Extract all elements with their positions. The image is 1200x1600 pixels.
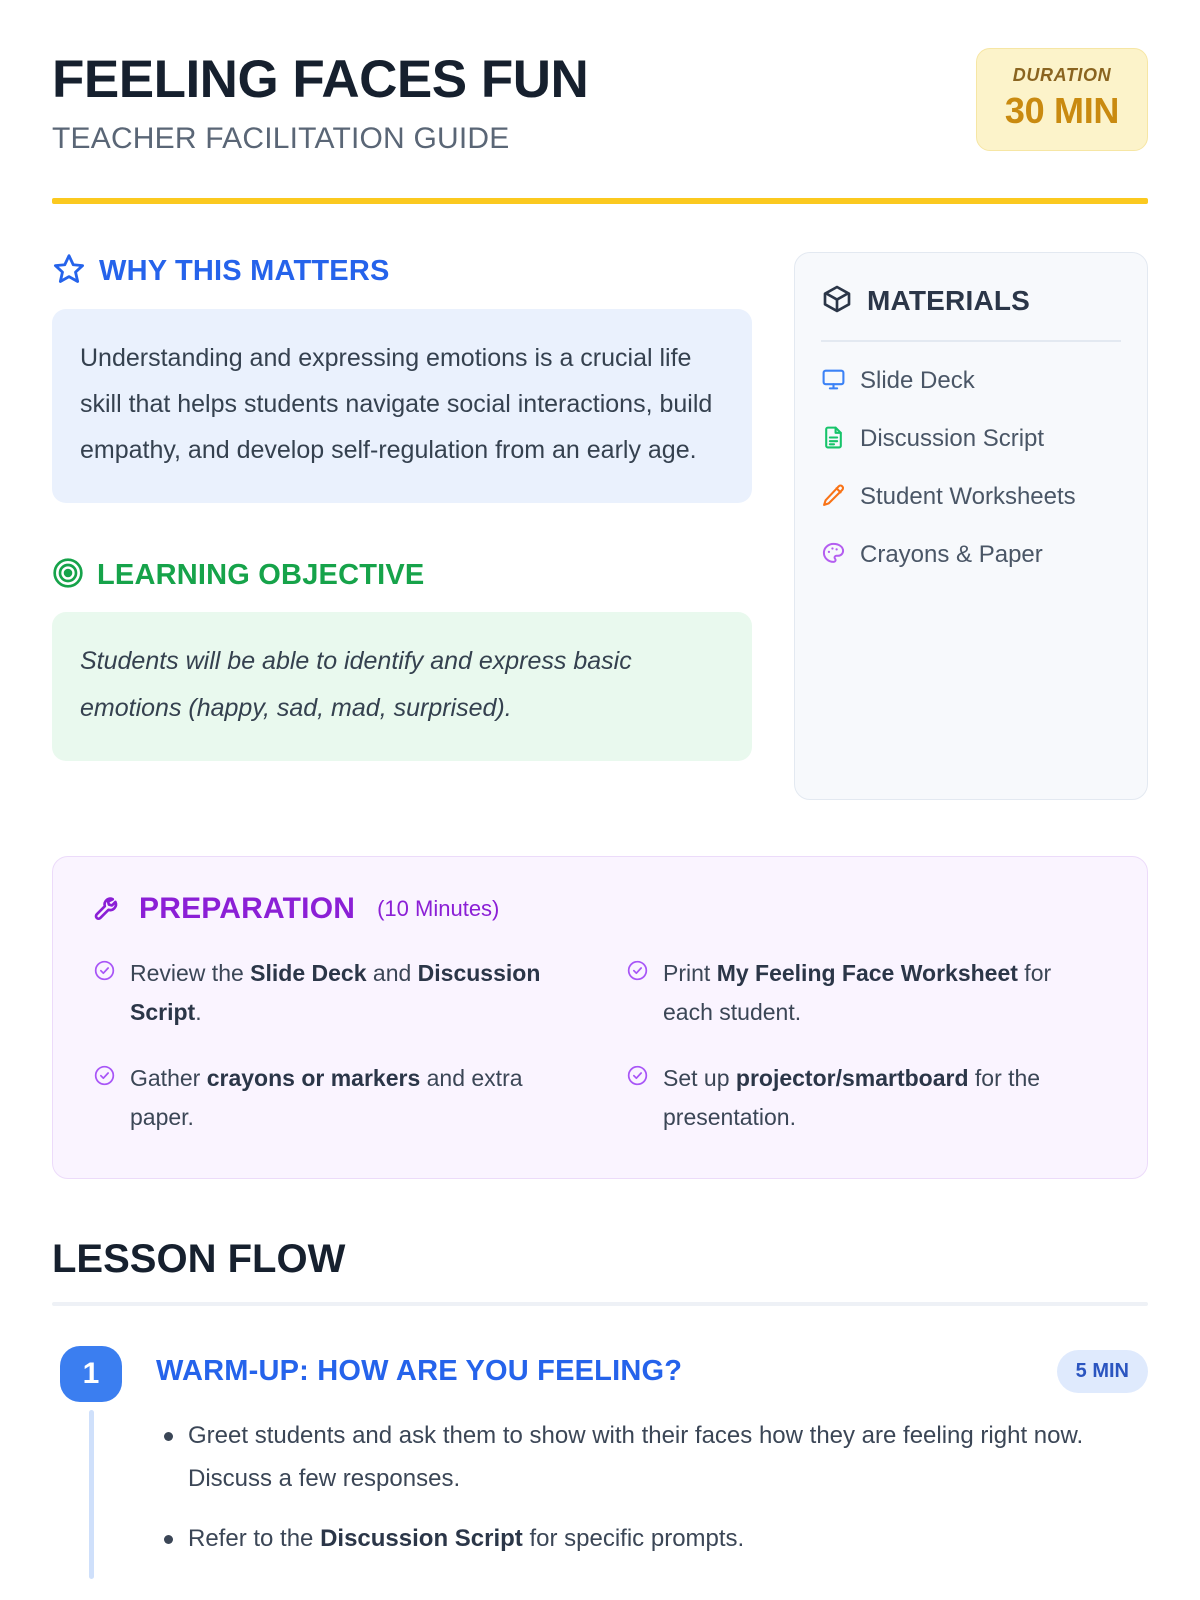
monitor-icon — [821, 367, 846, 397]
preparation-minutes: (10 Minutes) — [377, 896, 499, 922]
duration-label: DURATION — [999, 65, 1125, 86]
lesson-step-1: 1 WARM-UP: HOW ARE YOU FEELING? 5 MIN Gr… — [52, 1346, 1148, 1579]
header-titles: FEELING FACES FUN TEACHER FACILITATION G… — [52, 48, 588, 156]
why-this-matters-body: Understanding and expressing emotions is… — [80, 335, 724, 474]
check-circle-icon — [93, 1064, 116, 1092]
step-rail: 1 — [52, 1346, 130, 1579]
preparation-text: Review the Slide Deck and Discussion Scr… — [130, 954, 574, 1033]
page-subtitle: TEACHER FACILITATION GUIDE — [52, 122, 588, 156]
list-item[interactable]: Discussion Script — [821, 422, 1121, 456]
list-item: Gather crayons or markers and extra pape… — [93, 1059, 574, 1138]
why-this-matters-callout: Understanding and expressing emotions is… — [52, 309, 752, 504]
list-item[interactable]: Student Worksheets — [821, 480, 1121, 514]
duration-badge: DURATION 30 MIN — [976, 48, 1148, 151]
list-item: Set up projector/smartboard for the pres… — [626, 1059, 1107, 1138]
materials-divider — [821, 340, 1121, 342]
duration-value: 30 MIN — [999, 90, 1125, 132]
preparation-text: Set up projector/smartboard for the pres… — [663, 1059, 1107, 1138]
preparation-title: PREPARATION — [139, 892, 355, 926]
content-columns: WHY THIS MATTERS Understanding and expre… — [52, 252, 1148, 800]
list-item: Refer to the Discussion Script for speci… — [156, 1518, 1148, 1561]
list-item: Print My Feeling Face Worksheet for each… — [626, 954, 1107, 1033]
why-this-matters-header: WHY THIS MATTERS — [52, 252, 752, 291]
wrench-icon — [93, 891, 125, 928]
list-item: Review the Slide Deck and Discussion Scr… — [93, 954, 574, 1033]
material-label: Slide Deck — [860, 364, 975, 398]
list-item[interactable]: Slide Deck — [821, 364, 1121, 398]
step-title: WARM-UP: HOW ARE YOU FEELING? — [156, 1355, 682, 1388]
step-bullet-list: Greet students and ask them to show with… — [156, 1415, 1148, 1561]
lesson-guide-page: FEELING FACES FUN TEACHER FACILITATION G… — [0, 0, 1200, 1600]
side-column: MATERIALS Slide Deck — [794, 252, 1148, 800]
step-connector-line — [89, 1410, 94, 1579]
learning-objective-header: LEARNING OBJECTIVE — [52, 557, 752, 594]
star-icon — [52, 252, 86, 291]
list-item: Greet students and ask them to show with… — [156, 1415, 1148, 1500]
learning-objective-body: Students will be able to identify and ex… — [80, 638, 724, 731]
learning-objective-title: LEARNING OBJECTIVE — [97, 559, 424, 592]
step-body: WARM-UP: HOW ARE YOU FEELING? 5 MIN Gree… — [156, 1346, 1148, 1579]
step-number-badge: 1 — [60, 1346, 122, 1402]
step-header: WARM-UP: HOW ARE YOU FEELING? 5 MIN — [156, 1350, 1148, 1393]
header-divider — [52, 198, 1148, 204]
lesson-flow-title: LESSON FLOW — [52, 1237, 1148, 1282]
preparation-header: PREPARATION (10 Minutes) — [93, 891, 1107, 928]
target-icon — [52, 557, 84, 594]
materials-title: MATERIALS — [867, 285, 1030, 317]
main-column: WHY THIS MATTERS Understanding and expre… — [52, 252, 752, 800]
preparation-list: Review the Slide Deck and Discussion Scr… — [93, 954, 1107, 1138]
spacer — [52, 503, 752, 557]
preparation-text: Gather crayons or markers and extra pape… — [130, 1059, 574, 1138]
pencil-icon — [821, 483, 846, 513]
preparation-text: Print My Feeling Face Worksheet for each… — [663, 954, 1107, 1033]
check-circle-icon — [93, 959, 116, 987]
preparation-card: PREPARATION (10 Minutes) Review the Slid… — [52, 856, 1148, 1179]
step-duration-badge: 5 MIN — [1057, 1350, 1148, 1393]
document-header: FEELING FACES FUN TEACHER FACILITATION G… — [52, 48, 1148, 156]
learning-objective-callout: Students will be able to identify and ex… — [52, 612, 752, 761]
page-title: FEELING FACES FUN — [52, 52, 588, 108]
materials-header: MATERIALS — [821, 283, 1121, 320]
lesson-flow-divider — [52, 1302, 1148, 1306]
palette-icon — [821, 541, 846, 571]
check-circle-icon — [626, 959, 649, 987]
material-label: Discussion Script — [860, 422, 1044, 456]
materials-card: MATERIALS Slide Deck — [794, 252, 1148, 800]
why-this-matters-title: WHY THIS MATTERS — [99, 255, 390, 288]
file-text-icon — [821, 425, 846, 455]
material-label: Student Worksheets — [860, 480, 1076, 514]
list-item[interactable]: Crayons & Paper — [821, 538, 1121, 572]
materials-list: Slide Deck Discussion Script — [821, 364, 1121, 572]
material-label: Crayons & Paper — [860, 538, 1043, 572]
check-circle-icon — [626, 1064, 649, 1092]
package-icon — [821, 283, 853, 320]
